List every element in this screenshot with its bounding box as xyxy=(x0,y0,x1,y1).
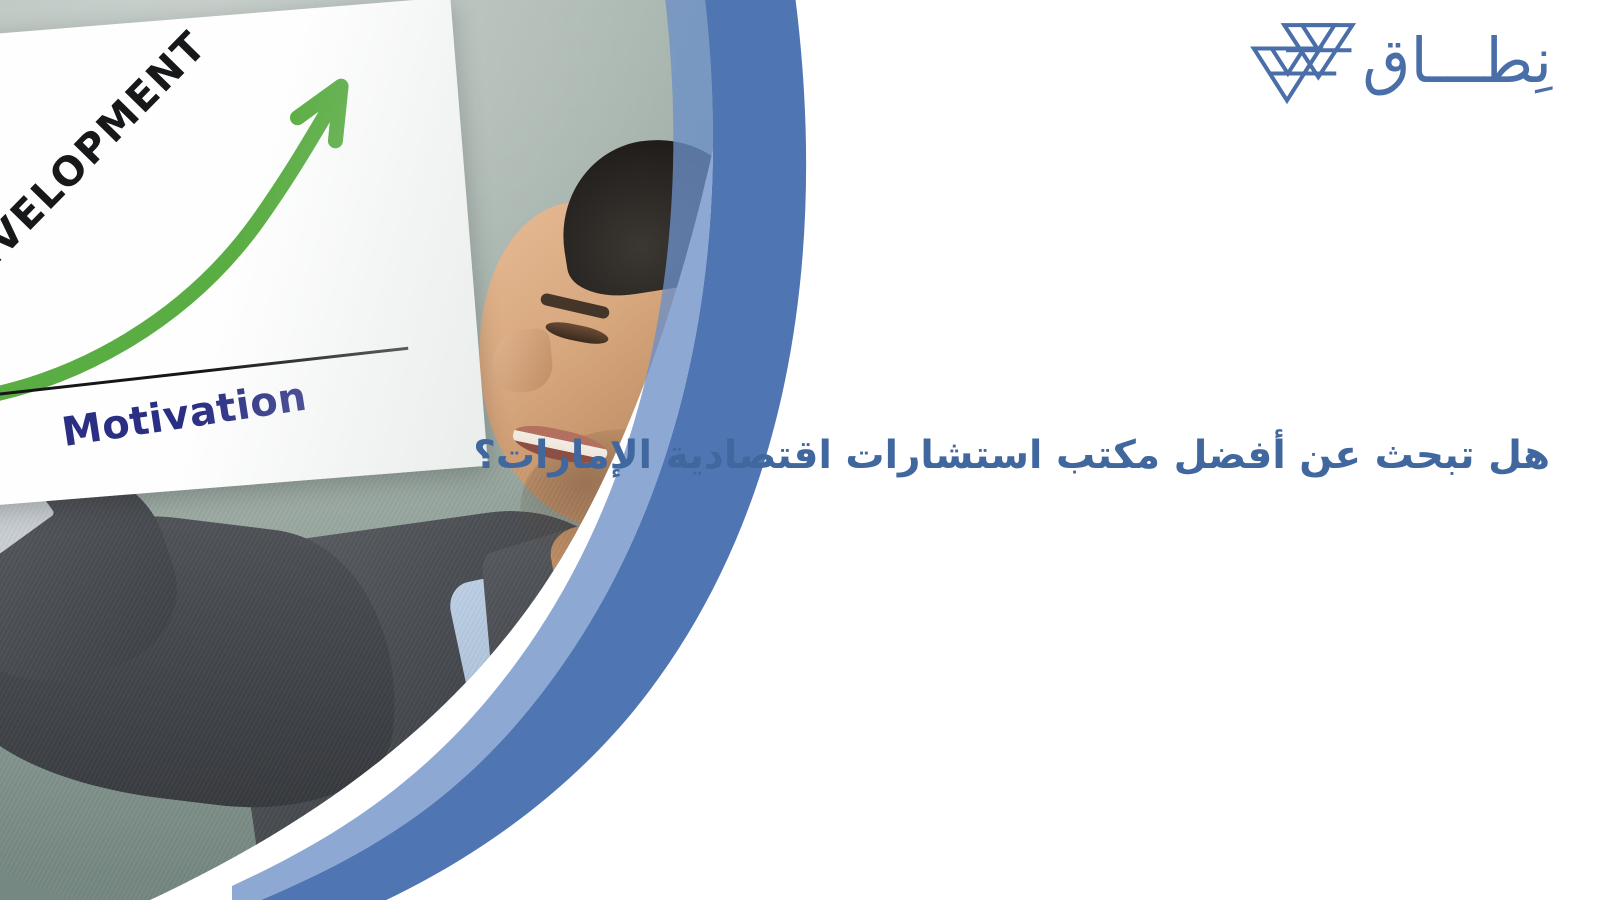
nested-triangles-logo-icon xyxy=(1250,18,1358,104)
brand-name: نِطـــاق xyxy=(1362,30,1552,92)
chart-baseline xyxy=(0,347,408,398)
suit-lapel xyxy=(481,521,614,770)
sign-axis-label: Motivation xyxy=(59,374,310,456)
hair xyxy=(549,126,740,304)
growth-arrow-icon xyxy=(0,0,488,509)
sign-title: DEVELOPMENT xyxy=(0,23,216,310)
brand-logo[interactable]: نِطـــاق xyxy=(1250,18,1552,104)
development-chart-sign: DEVELOPMENT Motivation xyxy=(0,0,488,509)
headline-text: هل تبحث عن أفضل مكتب استشارات اقتصادية ا… xyxy=(670,432,1550,481)
marketing-banner: DEVELOPMENT Motivation نِطـــاق xyxy=(0,0,1600,900)
